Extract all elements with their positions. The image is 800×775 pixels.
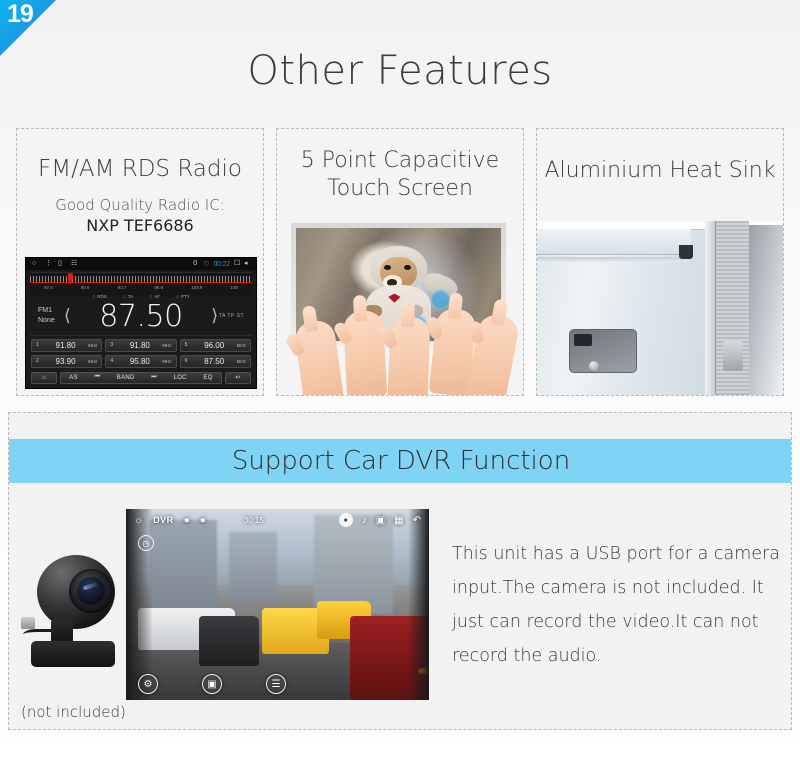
option-ta[interactable]: TA bbox=[123, 294, 133, 300]
card-title-touchscreen: 5 Point Capacitive Touch Screen bbox=[277, 147, 523, 202]
heatsink-edge bbox=[705, 221, 715, 396]
window-icon: ☐ bbox=[234, 261, 240, 267]
card-subtitle-radio: Good Quality Radio IC: bbox=[17, 196, 263, 214]
radio-presets: 1 91.80 MHz 3 91.80 MHz 5 96.00 MHz bbox=[31, 339, 251, 368]
heatsink-groove bbox=[537, 257, 681, 262]
preset-index: 4 bbox=[110, 358, 117, 364]
dvr-top-overlay: ☼ DVR ● ● 30:15 ● ♪ ▣ ▦ ↶ bbox=[126, 509, 429, 531]
radio-toolbar-center: AS ⏮ BAND ⏭ LOC EQ bbox=[60, 372, 222, 384]
record-icon[interactable]: ● bbox=[339, 513, 353, 527]
option-af[interactable]: AF bbox=[149, 294, 160, 300]
radio-screenshot: ○ ⋮ ▯ ☷ 0 ♡ 00:22 ☐ ◂ bbox=[25, 257, 257, 389]
slide-number-badge: 19 bbox=[0, 0, 56, 56]
feature-card-touchscreen: 5 Point Capacitive Touch Screen bbox=[276, 128, 524, 396]
dvr-description: This unit has a USB port for a camera in… bbox=[452, 537, 787, 674]
touch-point-indicator bbox=[432, 291, 449, 308]
preset-index: 3 bbox=[110, 342, 117, 348]
settings-icon[interactable]: ⚙ bbox=[138, 674, 158, 694]
status-left-icons: ○ ⋮ ▯ ☷ bbox=[32, 261, 77, 267]
mic-icon[interactable]: ● bbox=[184, 515, 190, 526]
preset-unit: MHz bbox=[162, 343, 171, 348]
status-right-icons: 0 ♡ 00:22 ☐ ◂ bbox=[193, 260, 250, 268]
card-title-radio: FM/AM RDS Radio bbox=[17, 155, 263, 184]
heatsink-notch bbox=[679, 245, 693, 259]
heatsink-photo bbox=[537, 221, 784, 396]
scale-label: 96.8 bbox=[154, 285, 163, 290]
preset-index: 1 bbox=[36, 342, 43, 348]
preset-value: 91.80 bbox=[117, 341, 162, 350]
option-rds[interactable]: RDS bbox=[92, 294, 107, 300]
heatsink-shadow bbox=[749, 225, 784, 396]
preset-unit: MHz bbox=[88, 359, 97, 364]
dash-camera-photo bbox=[23, 551, 129, 681]
car bbox=[199, 616, 260, 666]
power-icon: ○ bbox=[32, 261, 38, 267]
heatsink-top-plate bbox=[537, 229, 691, 255]
preset-button[interactable]: 4 95.80 MHz bbox=[105, 355, 176, 368]
eq-button[interactable]: EQ bbox=[203, 375, 212, 381]
band-button[interactable]: BAND bbox=[117, 375, 135, 381]
heatsink-clip bbox=[723, 341, 743, 371]
card-title-line2: Touch Screen bbox=[283, 175, 517, 203]
copy-icon: ☷ bbox=[71, 261, 77, 267]
dvr-mode-label: DVR bbox=[153, 515, 174, 525]
mute-icon[interactable]: ♪ bbox=[362, 515, 367, 526]
scale-label: 103.9 bbox=[191, 285, 202, 290]
dvr-top-right-icons: ● ♪ ▣ ▦ ↶ bbox=[339, 513, 421, 527]
next-icon[interactable]: ⏭ bbox=[151, 374, 157, 381]
camera-lens-inner bbox=[77, 577, 105, 605]
heatsink-screw bbox=[589, 361, 599, 371]
preset-unit: MHz bbox=[162, 359, 171, 364]
finger bbox=[401, 301, 415, 327]
scale-label: 87.5 bbox=[44, 285, 53, 290]
right-pillar bbox=[408, 509, 429, 700]
preset-index: 6 bbox=[185, 358, 192, 364]
screenshot-icon: ▯ bbox=[58, 261, 64, 267]
preset-value: 96.00 bbox=[192, 341, 237, 350]
gallery-icon[interactable]: ▣ bbox=[376, 515, 385, 526]
radio-frequency-scale[interactable]: 87.5 90.6 93.7 96.8 103.9 108 RDS TA AF … bbox=[30, 272, 252, 297]
hand-illustration bbox=[343, 310, 387, 396]
scale-label: 90.6 bbox=[81, 285, 90, 290]
scale-ticks bbox=[30, 276, 252, 283]
preset-index: 5 bbox=[185, 342, 192, 348]
camera-caption: (not included) bbox=[21, 703, 126, 721]
radio-band-box: FM1 None bbox=[38, 306, 64, 326]
feature-card-radio: FM/AM RDS Radio Good Quality Radio IC: N… bbox=[16, 128, 264, 396]
notification-count: 0 bbox=[193, 261, 199, 267]
preset-value: 87.50 bbox=[192, 357, 237, 366]
heatsink-window bbox=[569, 329, 637, 373]
building bbox=[229, 532, 277, 601]
preset-button[interactable]: 3 91.80 MHz bbox=[105, 339, 176, 352]
option-pty[interactable]: PTY bbox=[176, 294, 190, 300]
radio-indicators: TA TP ST bbox=[218, 313, 244, 319]
camera-base bbox=[31, 641, 115, 667]
radio-main-display: FM1 None ⟨ 87.50 ⟩ TA TP ST bbox=[30, 298, 252, 336]
feature-card-heatsink: Aluminium Heat Sink bbox=[536, 128, 784, 396]
slide-page: 19 Other Features FM/AM RDS Radio Good Q… bbox=[0, 0, 800, 775]
auto-scan-button[interactable]: AS bbox=[69, 375, 78, 381]
dvr-banner: Support Car DVR Function bbox=[8, 439, 792, 483]
back-icon[interactable]: ↶ bbox=[413, 515, 421, 526]
tune-down-icon[interactable]: ⟨ bbox=[64, 306, 71, 326]
scale-labels: 87.5 90.6 93.7 96.8 103.9 108 bbox=[30, 285, 252, 290]
touchscreen-illustration bbox=[277, 217, 524, 396]
preset-unit: MHz bbox=[237, 343, 246, 348]
dvr-video-preview: ☼ DVR ● ● 30:15 ● ♪ ▣ ▦ ↶ ◷ ⚙ ▣ ☰ bbox=[126, 509, 429, 700]
radio-toolbar: ⌂ AS ⏮ BAND ⏭ LOC EQ ↩ bbox=[31, 372, 251, 384]
radio-station-name: None bbox=[38, 316, 64, 326]
finger bbox=[447, 292, 463, 319]
scale-label: 108 bbox=[230, 285, 238, 290]
home-icon[interactable]: ⌂ bbox=[31, 372, 57, 384]
camera-icon[interactable]: ☼ bbox=[134, 515, 143, 526]
radio-frequency: 87.50 bbox=[71, 299, 212, 334]
preset-button[interactable]: 6 87.50 MHz bbox=[180, 355, 251, 368]
capture-icon[interactable]: ▣ bbox=[202, 674, 222, 694]
building bbox=[150, 520, 217, 608]
card-title-line1: 5 Point Capacitive bbox=[283, 147, 517, 175]
badge-number: 19 bbox=[7, 2, 33, 27]
back-icon: ◂ bbox=[244, 261, 250, 267]
preset-value: 93.90 bbox=[43, 357, 88, 366]
folder-icon[interactable]: ▦ bbox=[394, 515, 403, 526]
preset-unit: MHz bbox=[88, 343, 97, 348]
heart-icon: ♡ bbox=[203, 260, 209, 268]
dvr-banner-title: Support Car DVR Function bbox=[232, 446, 570, 476]
status-clock: 00:22 bbox=[213, 261, 230, 268]
preset-value: 91.80 bbox=[43, 341, 88, 350]
tune-up-icon[interactable]: ⟩ bbox=[211, 306, 218, 326]
thumb bbox=[284, 333, 306, 358]
camera-plug bbox=[21, 617, 35, 629]
menu-icon[interactable]: ☰ bbox=[266, 674, 286, 694]
prev-icon[interactable]: ⏮ bbox=[95, 374, 101, 381]
radio-status-bar: ○ ⋮ ▯ ☷ 0 ♡ 00:22 ☐ ◂ bbox=[26, 258, 256, 270]
location-icon[interactable]: ● bbox=[200, 515, 206, 526]
hand-illustration bbox=[465, 312, 521, 396]
preset-value: 95.80 bbox=[117, 357, 162, 366]
dvr-section: Support Car DVR Function (not included) bbox=[8, 412, 792, 730]
radio-band: FM1 bbox=[38, 306, 64, 316]
feature-cards-row: FM/AM RDS Radio Good Quality Radio IC: N… bbox=[16, 128, 784, 396]
card-title-heatsink: Aluminium Heat Sink bbox=[537, 157, 783, 185]
dvr-bottom-overlay: ⚙ ▣ ☰ bbox=[126, 674, 429, 694]
preset-unit: MHz bbox=[237, 359, 246, 364]
back-icon[interactable]: ↩ bbox=[225, 372, 251, 384]
menu-icon: ⋮ bbox=[45, 261, 51, 267]
preset-index: 2 bbox=[36, 358, 43, 364]
preset-button[interactable]: 5 96.00 MHz bbox=[180, 339, 251, 352]
finger bbox=[353, 295, 367, 322]
page-title: Other Features bbox=[0, 48, 800, 94]
loc-button[interactable]: LOC bbox=[174, 375, 187, 381]
card-chip-radio: NXP TEF6686 bbox=[17, 216, 263, 235]
preset-button[interactable]: 1 91.80 MHz bbox=[31, 339, 102, 352]
clock-icon[interactable]: ◷ bbox=[138, 535, 154, 551]
dvr-timestamp: 30:15 bbox=[244, 516, 264, 525]
scale-label: 93.7 bbox=[118, 285, 127, 290]
preset-button[interactable]: 2 93.90 MHz bbox=[31, 355, 102, 368]
hand-illustration bbox=[388, 316, 431, 396]
radio-options: RDS TA AF PTY bbox=[30, 294, 252, 300]
